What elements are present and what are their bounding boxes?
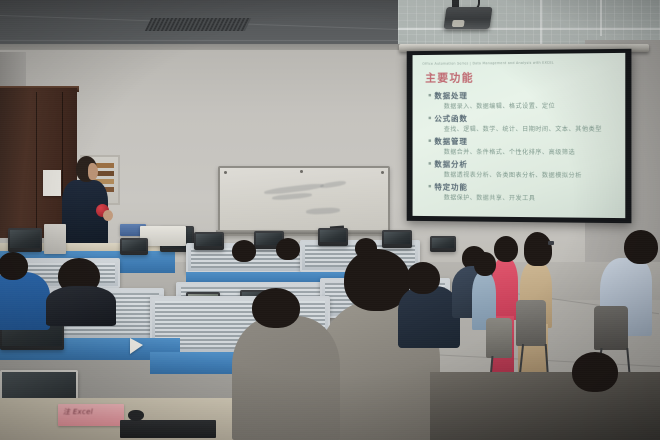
attendee-head: [276, 238, 300, 260]
bullet-dot-icon: ▪: [428, 114, 431, 123]
chair[interactable]: [516, 300, 546, 346]
slide-header-line: Office Automation Series | Data Manageme…: [422, 60, 619, 66]
pink-note-text: 注 Excel: [58, 404, 124, 417]
attendee-head: [252, 288, 300, 328]
ceiling-projector: [443, 7, 492, 29]
bullet-dot-icon: ▪: [428, 91, 431, 100]
chair[interactable]: [594, 306, 628, 350]
posted-paper: [43, 170, 61, 196]
whiteboard: [218, 166, 390, 236]
monitor: [430, 236, 456, 252]
bullet-heading: 数据处理: [434, 91, 467, 101]
classroom-photo: Office Automation Series | Data Manageme…: [0, 0, 660, 440]
bullet-heading: 特定功能: [434, 183, 467, 193]
ceiling-beam: [540, 0, 542, 50]
bullet-detail: 数据合并、条件格式、个性化排序、高级筛选: [444, 148, 619, 157]
keyboard: [120, 420, 216, 438]
bullet-heading: 数据管理: [434, 137, 467, 147]
attendee-torso: [46, 286, 116, 326]
bullet-dot-icon: ▪: [428, 137, 431, 146]
bullet-detail: 数据保护、数据共享、开发工具: [444, 193, 619, 203]
cabinet-seam: [36, 92, 37, 237]
desktop-tower: [44, 224, 66, 254]
attendee-torso: [0, 272, 50, 330]
attendee-head: [474, 252, 496, 276]
mouse: [128, 410, 144, 421]
bullet-heading: 公式函数: [434, 114, 467, 124]
bullet-detail: 数据透视表分析、各类图表分析、数据模拟分析: [444, 171, 619, 181]
presenter-face: [88, 163, 98, 180]
bullet-detail: 数据录入、数据编辑、格式设置、定位: [444, 102, 619, 112]
ceiling-seam: [0, 40, 400, 41]
monitor: [382, 230, 412, 248]
slide-bullet: ▪ 数据处理: [428, 90, 619, 101]
folded-paper: [130, 338, 143, 354]
attendee-blue-shirt-head: [624, 230, 658, 264]
bullet-dot-icon: ▪: [428, 160, 431, 169]
projection-screen: Office Automation Series | Data Manageme…: [413, 53, 626, 218]
bullet-heading: 数据分析: [434, 160, 467, 170]
projector-lens: [452, 20, 465, 27]
attendee-pink-top-head: [494, 236, 518, 262]
chair[interactable]: [486, 318, 512, 358]
bullet-dot-icon: ▪: [428, 182, 431, 191]
monitor: [120, 238, 148, 255]
attendee-head: [572, 352, 618, 392]
monitor: [194, 232, 224, 250]
attendee-torso: [398, 286, 460, 348]
slide-bullet: ▪ 数据管理: [428, 137, 619, 147]
attendee-head: [406, 262, 440, 294]
ceiling-beam: [600, 0, 602, 36]
attendee-head: [355, 238, 377, 258]
whiteboard-tray: [216, 230, 388, 234]
front-monitor: [8, 228, 42, 252]
slide-bullet: ▪ 特定功能: [428, 182, 619, 193]
attendee-head: [232, 240, 256, 262]
ceiling-vent: [145, 18, 251, 31]
pink-desk-note: 注 Excel: [58, 404, 124, 426]
attendee-head: [0, 252, 28, 280]
glasses-icon: [548, 241, 554, 245]
slide-bullet: ▪ 公式函数: [428, 114, 619, 124]
attendee-tan-jacket-head: [524, 232, 552, 266]
attendee-torso: [232, 316, 340, 440]
presenter-hand: [103, 210, 113, 221]
bullet-detail: 查找、逻辑、数学、统计、日期时间、文本、其他类型: [444, 125, 619, 134]
foreground-shadow: [430, 372, 660, 440]
slide-bullet: ▪ 数据分析: [428, 160, 619, 171]
slide-title: 主要功能: [425, 68, 619, 85]
presentation-slide: Office Automation Series | Data Manageme…: [413, 53, 626, 218]
monitor: [318, 228, 348, 246]
ceiling-beam: [398, 28, 660, 30]
